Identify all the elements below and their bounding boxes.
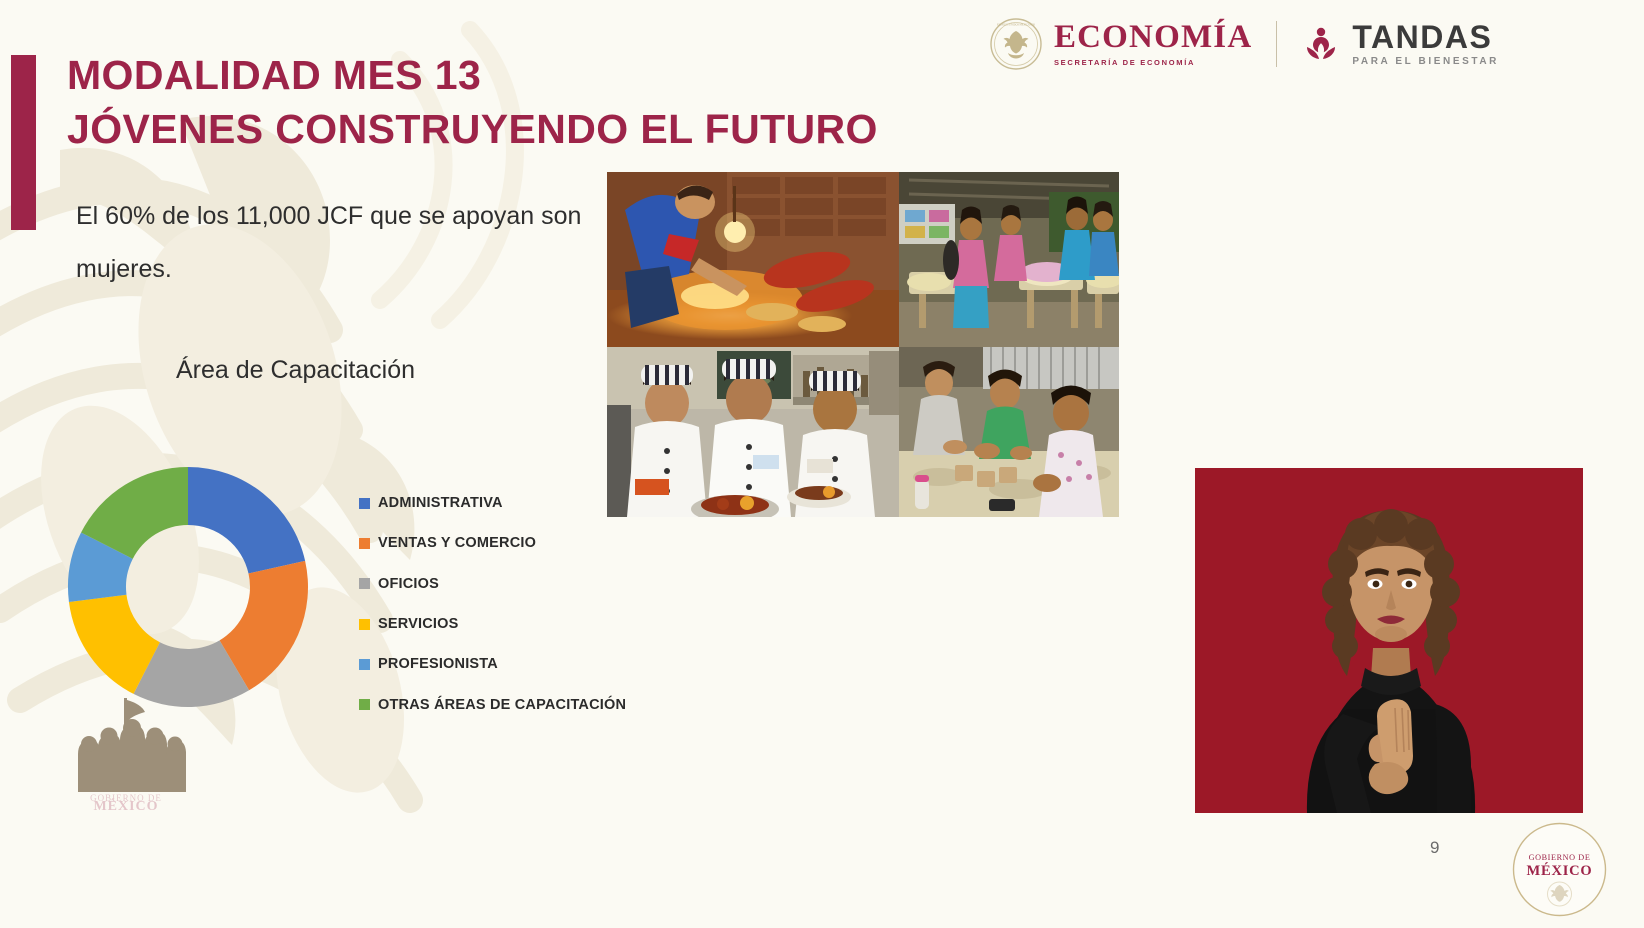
legend-item: SERVICIOS [359,604,626,644]
logo-divider [1276,21,1277,67]
tandas-subtitle: PARA EL BIENESTAR [1352,57,1499,67]
header-logo-bar: ESTADOS UNIDOS MEXICANOS ECONOMÍA SECRET… [990,18,1499,70]
legend-swatch-icon [359,699,370,710]
legend-label: ADMINISTRATIVA [378,495,503,511]
legend-swatch-icon [359,659,370,670]
economia-logo: ESTADOS UNIDOS MEXICANOS ECONOMÍA SECRET… [990,18,1252,70]
tandas-logo: TANDAS PARA EL BIENESTAR [1301,21,1499,67]
title-accent-bar [11,55,36,230]
legend-label: VENTAS Y COMERCIO [378,535,536,551]
legend-item: PROFESIONISTA [359,644,626,684]
tandas-title: TANDAS [1352,21,1499,53]
donut-slice [188,467,305,573]
legend-label: SERVICIOS [378,616,459,632]
page-number: 9 [1430,838,1439,858]
chart-legend: ADMINISTRATIVAVENTAS Y COMERCIOOFICIOSSE… [359,483,626,725]
legend-label: OTRAS ÁREAS DE CAPACITACIÓN [378,697,626,713]
svg-text:MÉXICO: MÉXICO [1526,862,1592,879]
artisan-forge-photo [607,172,899,347]
economia-title: ECONOMÍA [1054,21,1252,54]
legend-swatch-icon [359,498,370,509]
legend-label: PROFESIONISTA [378,656,498,672]
legend-item: VENTAS Y COMERCIO [359,523,626,563]
legend-label: OFICIOS [378,576,439,592]
title-line-1: MODALIDAD MES 13 [67,48,878,102]
legend-item: ADMINISTRATIVA [359,483,626,523]
legend-swatch-icon [359,538,370,549]
capacitacion-donut-chart [64,463,312,711]
women-tortilla-stand-photo [899,172,1119,347]
svg-text:ESTADOS UNIDOS MEXICANOS: ESTADOS UNIDOS MEXICANOS [997,24,1036,27]
legend-item: OTRAS ÁREAS DE CAPACITACIÓN [359,684,626,724]
tandas-flower-icon [1301,24,1341,64]
culinary-students-photo [607,347,899,517]
svg-text:GOBIERNO DE: GOBIERNO DE [1529,853,1591,862]
women-crafting-workshop-photo [899,347,1119,517]
gobierno-de-mexico-badge: GOBIERNO DE MÉXICO [1512,822,1607,917]
svg-text:MÉXICO: MÉXICO [93,797,158,810]
lead-paragraph: El 60% de los 11,000 JCF que se apoyan s… [76,190,596,296]
sign-language-interpreter-panel [1195,468,1583,813]
legend-item: OFICIOS [359,564,626,604]
legend-swatch-icon [359,619,370,630]
economia-subtitle: SECRETARÍA DE ECONOMÍA [1054,59,1252,67]
page-title: MODALIDAD MES 13 JÓVENES CONSTRUYENDO EL… [67,48,878,156]
legend-swatch-icon [359,578,370,589]
mexican-eagle-seal-icon: ESTADOS UNIDOS MEXICANOS [990,18,1042,70]
title-line-2: JÓVENES CONSTRUYENDO EL FUTURO [67,102,878,156]
chart-heading: Área de Capacitación [176,356,415,385]
photo-collage [607,172,1119,517]
